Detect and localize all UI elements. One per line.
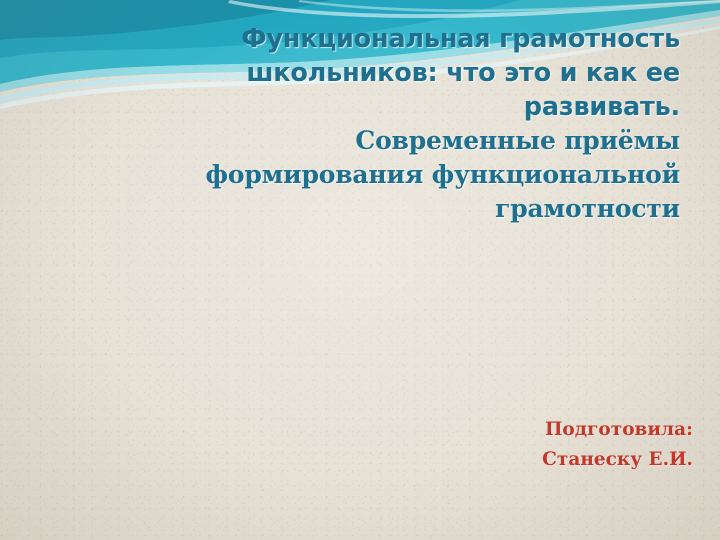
title-line-6: грамотности bbox=[140, 192, 680, 226]
author-label: Подготовила: bbox=[273, 415, 693, 445]
slide-author: Подготовила: Станеску Е.И. bbox=[273, 415, 693, 475]
title-line-5: формирования функциональной bbox=[140, 158, 680, 192]
presentation-slide: Функциональная грамотность школьников: ч… bbox=[0, 0, 720, 540]
author-name: Станеску Е.И. bbox=[273, 445, 693, 475]
title-line-2: школьников: что это и как ее bbox=[140, 56, 680, 90]
title-line-3: развивать. bbox=[140, 90, 680, 124]
slide-title: Функциональная грамотность школьников: ч… bbox=[140, 22, 680, 226]
title-line-1: Функциональная грамотность bbox=[140, 22, 680, 56]
title-line-4: Современные приёмы bbox=[140, 124, 680, 158]
